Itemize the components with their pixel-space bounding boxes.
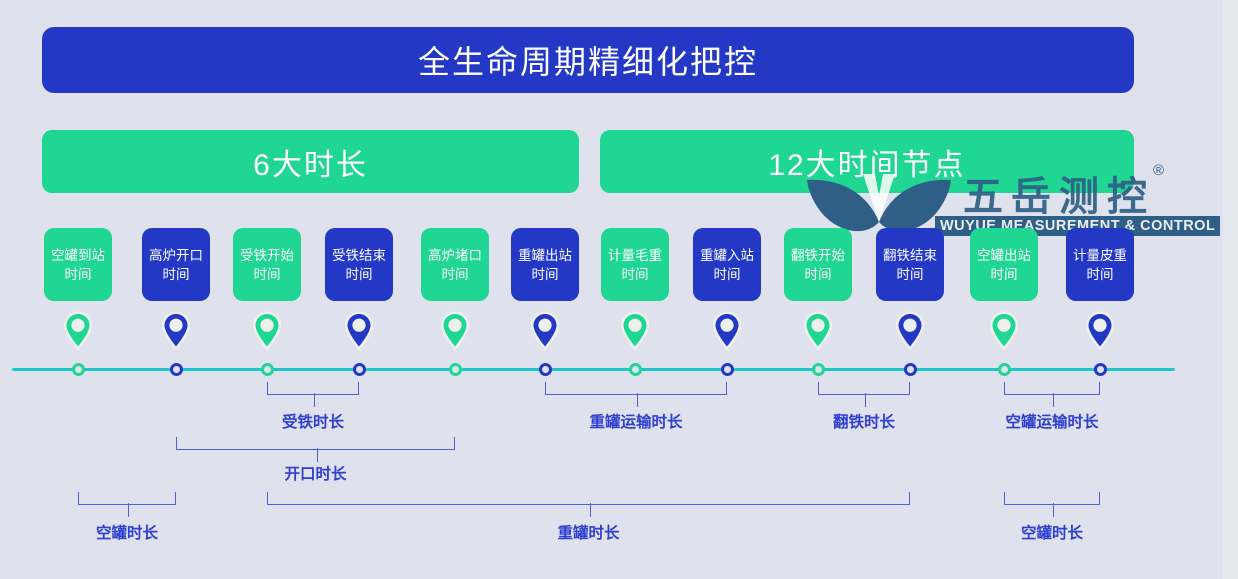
- duration-bracket-stem: [637, 393, 638, 407]
- map-pin-icon: [989, 310, 1019, 352]
- duration-bracket-stem: [128, 503, 129, 517]
- duration-bracket-label: 翻铁时长: [833, 410, 895, 432]
- timeline-node-chip[interactable]: 高炉开口时间: [142, 228, 210, 301]
- duration-bracket: [267, 492, 910, 505]
- map-pin-icon: [63, 310, 93, 352]
- timeline-node-chip[interactable]: 计量皮重时间: [1066, 228, 1134, 301]
- timeline-marker-dot: [629, 363, 642, 376]
- timeline-node-label: 重罐出站时间: [515, 246, 575, 284]
- timeline-node-label: 翻铁开始时间: [788, 246, 848, 284]
- section-header-nodes-label: 12大时间节点: [768, 140, 965, 184]
- duration-bracket-label: 空罐时长: [96, 521, 158, 543]
- duration-bracket-label: 空罐运输时长: [1005, 410, 1098, 432]
- duration-bracket: [818, 382, 910, 395]
- map-pin-icon: [803, 310, 833, 352]
- timeline-node-label: 空罐到站时间: [48, 246, 108, 284]
- duration-bracket: [78, 492, 176, 505]
- map-pin-icon: [712, 310, 742, 352]
- timeline-marker-dot: [170, 363, 183, 376]
- timeline-node-label: 空罐出站时间: [974, 246, 1034, 284]
- map-pin-icon: [252, 310, 282, 352]
- right-edge-strip: [1223, 0, 1238, 579]
- duration-bracket-label: 重罐时长: [557, 521, 619, 543]
- duration-bracket: [1004, 382, 1100, 395]
- timeline-marker-dot: [998, 363, 1011, 376]
- duration-bracket: [176, 437, 455, 450]
- map-pin-icon: [620, 310, 650, 352]
- timeline-node-label: 翻铁结束时间: [880, 246, 940, 284]
- map-pin-icon: [1085, 310, 1115, 352]
- section-header-durations: 6大时长: [42, 130, 579, 193]
- map-pin-icon: [440, 310, 470, 352]
- duration-bracket-label: 受铁时长: [282, 410, 344, 432]
- timeline-node-chip[interactable]: 受铁结束时间: [325, 228, 393, 301]
- timeline-node-chip[interactable]: 计量毛重时间: [601, 228, 669, 301]
- timeline-node-label: 高炉开口时间: [146, 246, 206, 284]
- timeline-node-label: 高炉堵口时间: [425, 246, 485, 284]
- duration-bracket-stem: [317, 448, 318, 462]
- duration-bracket: [545, 382, 727, 395]
- timeline-node-chip[interactable]: 高炉堵口时间: [421, 228, 489, 301]
- duration-bracket-stem: [865, 393, 866, 407]
- map-pin-icon: [895, 310, 925, 352]
- timeline-marker-dot: [261, 363, 274, 376]
- timeline-node-chip[interactable]: 空罐到站时间: [44, 228, 112, 301]
- timeline-marker-dot: [1094, 363, 1107, 376]
- duration-bracket-stem: [1053, 393, 1054, 407]
- timeline-node-label: 受铁结束时间: [329, 246, 389, 284]
- timeline-marker-dot: [353, 363, 366, 376]
- timeline-marker-dot: [904, 363, 917, 376]
- map-pin-icon: [530, 310, 560, 352]
- duration-bracket-stem: [590, 503, 591, 517]
- timeline-node-label: 计量毛重时间: [605, 246, 665, 284]
- timeline-node-chip[interactable]: 翻铁结束时间: [876, 228, 944, 301]
- timeline-marker-dot: [539, 363, 552, 376]
- timeline-node-label: 受铁开始时间: [237, 246, 297, 284]
- timeline-node-chip[interactable]: 翻铁开始时间: [784, 228, 852, 301]
- timeline-marker-dot: [812, 363, 825, 376]
- section-header-nodes: 12大时间节点: [600, 130, 1134, 193]
- section-header-durations-label: 6大时长: [253, 140, 368, 184]
- duration-bracket-label: 空罐时长: [1021, 521, 1083, 543]
- duration-bracket: [267, 382, 359, 395]
- duration-bracket-label: 开口时长: [284, 462, 346, 484]
- duration-bracket-label: 重罐运输时长: [589, 410, 682, 432]
- timeline-marker-dot: [72, 363, 85, 376]
- map-pin-icon: [344, 310, 374, 352]
- map-pin-icon: [161, 310, 191, 352]
- timeline-node-chip[interactable]: 重罐出站时间: [511, 228, 579, 301]
- timeline-node-chip[interactable]: 空罐出站时间: [970, 228, 1038, 301]
- title-banner: 全生命周期精细化把控: [42, 27, 1134, 93]
- duration-bracket-stem: [1053, 503, 1054, 517]
- timeline-node-label: 计量皮重时间: [1070, 246, 1130, 284]
- timeline-marker-dot: [449, 363, 462, 376]
- timeline-node-chip[interactable]: 重罐入站时间: [693, 228, 761, 301]
- watermark-registered-mark: ®: [1153, 162, 1164, 179]
- timeline-marker-dot: [721, 363, 734, 376]
- timeline-node-label: 重罐入站时间: [697, 246, 757, 284]
- duration-bracket-stem: [314, 393, 315, 407]
- timeline-node-chip[interactable]: 受铁开始时间: [233, 228, 301, 301]
- duration-bracket: [1004, 492, 1100, 505]
- page-title: 全生命周期精细化把控: [418, 37, 758, 83]
- slide-canvas: 全生命周期精细化把控 6大时长 12大时间节点 五岳测控 ® WUYUE MEA…: [0, 0, 1238, 579]
